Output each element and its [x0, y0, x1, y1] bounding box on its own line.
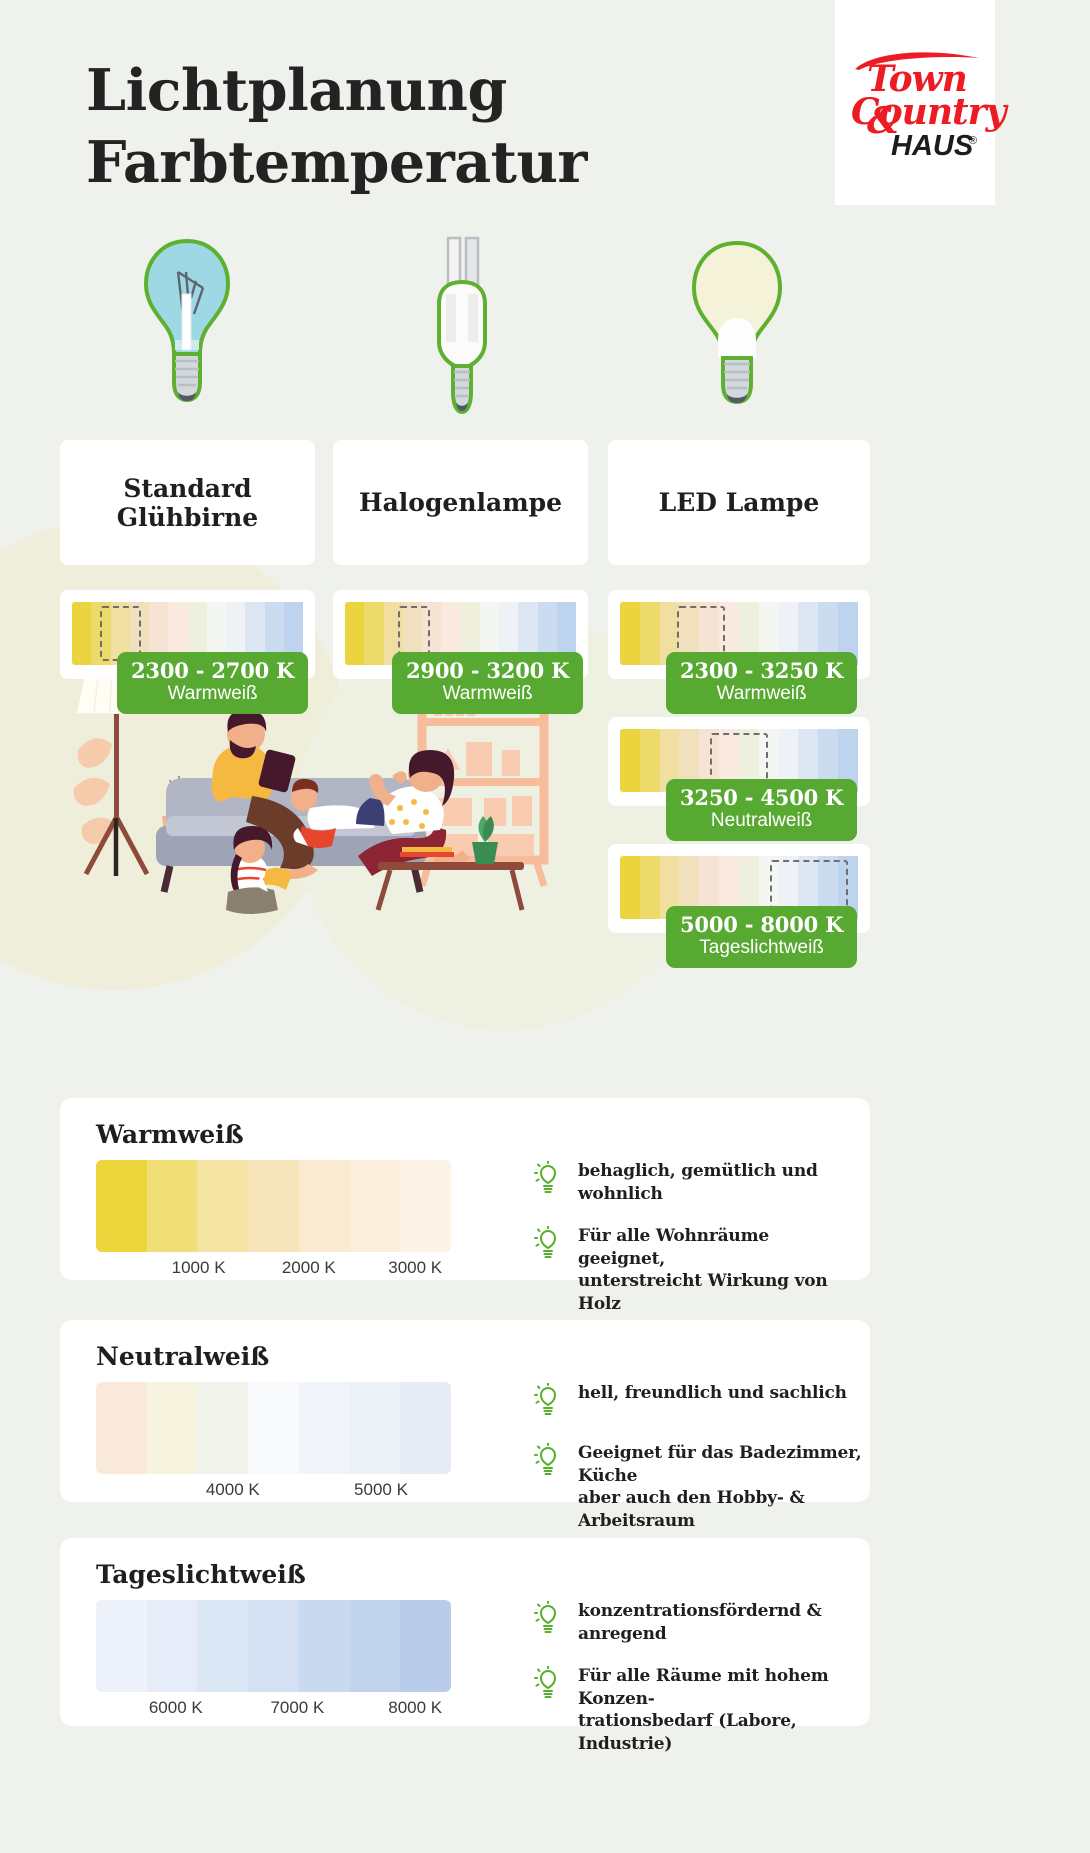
kelvin-band [640, 856, 660, 919]
bullet-text: Für alle Räume mit hohem Konzen- tration… [578, 1665, 864, 1755]
kelvin-band [345, 602, 364, 665]
kelvin-band [620, 729, 640, 792]
bullet-text: behaglich, gemütlich und wohnlich [578, 1160, 844, 1205]
infographic-page: Lichtplanung Farbtemperatur Town & Count… [0, 0, 1090, 1853]
info-panel-tageslichtweiss: Tageslichtweiß 6000 K7000 K8000 K [60, 1538, 870, 1726]
info-band [147, 1160, 198, 1252]
kelvin-name: Warmweiß [131, 683, 294, 706]
bullet-item: hell, freundlich und sachlich [534, 1382, 864, 1422]
lamp-card-title: Standard Glühbirne [60, 474, 315, 532]
lightbulb-icon [534, 1443, 564, 1482]
info-bullets-tageslichtweiss: konzentrationsfördernd & anregend [534, 1600, 864, 1756]
info-band [299, 1382, 350, 1474]
info-tick-labels: 1000 K2000 K3000 K [96, 1258, 476, 1284]
kelvin-badge-halogen-warmweiss: 2900 - 3200 K Warmweiß [392, 652, 583, 714]
info-band [197, 1382, 248, 1474]
info-band [197, 1600, 248, 1692]
info-band [299, 1160, 350, 1252]
tick-label: 8000 K [388, 1698, 442, 1718]
lightbulb-icon [534, 1383, 564, 1422]
kelvin-band [640, 729, 660, 792]
kelvin-range: 2300 - 3250 K [680, 659, 843, 683]
kelvin-name: Neutralweiß [680, 810, 843, 833]
bullet-text: Für alle Wohnräume geeignet, unterstreic… [578, 1225, 844, 1315]
info-band [350, 1600, 401, 1692]
info-band [400, 1382, 451, 1474]
logo-registered-mark: ® [969, 135, 977, 147]
info-panel-warmweiss: Warmweiß 1000 K2000 K3000 K [60, 1098, 870, 1280]
info-gradient-strip [96, 1382, 451, 1474]
kelvin-band [620, 856, 640, 919]
led-lamp-icon [688, 238, 786, 455]
lamp-card-title: Halogenlampe [359, 488, 562, 517]
kelvin-band [640, 602, 660, 665]
info-bullets-warmweiss: behaglich, gemütlich und wohnlich [534, 1160, 844, 1316]
bullet-item: Für alle Räume mit hohem Konzen- tration… [534, 1665, 864, 1755]
kelvin-name: Warmweiß [680, 683, 843, 706]
kelvin-badge-standard-warmweiss: 2300 - 2700 K Warmweiß [117, 652, 308, 714]
bullet-text: konzentrationsfördernd & anregend [578, 1600, 864, 1645]
info-gradient-strip [96, 1160, 451, 1252]
info-band [248, 1600, 299, 1692]
tick-label: 1000 K [172, 1258, 226, 1278]
logo-line-haus: HAUS [891, 130, 973, 163]
info-panel-title: Warmweiß [96, 1120, 244, 1149]
lightbulb-icon [534, 1226, 564, 1265]
lightbulb-icon [534, 1666, 564, 1705]
bullet-item: Geeignet für das Badezimmer, Küche aber … [534, 1442, 864, 1532]
info-band [147, 1600, 198, 1692]
lamp-card-led[interactable]: LED Lampe [608, 440, 870, 565]
info-panel-title: Tageslichtweiß [96, 1560, 306, 1589]
info-band [96, 1600, 147, 1692]
info-panel-title: Neutralweiß [96, 1342, 269, 1371]
info-tick-labels: 4000 K5000 K [96, 1480, 476, 1506]
lamp-card-halogen[interactable]: Halogenlampe [333, 440, 588, 565]
info-panel-neutralweiss: Neutralweiß 4000 K5000 K [60, 1320, 870, 1502]
tick-label: 4000 K [206, 1480, 260, 1500]
info-tick-labels: 6000 K7000 K8000 K [96, 1698, 476, 1724]
kelvin-badge-led-neutralweiss: 3250 - 4500 K Neutralweiß [666, 779, 857, 841]
bullet-item: konzentrationsfördernd & anregend [534, 1600, 864, 1645]
kelvin-badge-led-tageslichtweiss: 5000 - 8000 K Tageslichtweiß [666, 906, 857, 968]
bullet-item: Für alle Wohnräume geeignet, unterstreic… [534, 1225, 844, 1315]
kelvin-range: 3250 - 4500 K [680, 786, 843, 810]
logo-line-country: Country [851, 91, 1006, 133]
kelvin-badge-led-warmweiss: 2300 - 3250 K Warmweiß [666, 652, 857, 714]
info-band [147, 1382, 198, 1474]
kelvin-name: Warmweiß [406, 683, 569, 706]
kelvin-range: 2900 - 3200 K [406, 659, 569, 683]
kelvin-band [620, 602, 640, 665]
lamp-card-title: LED Lampe [659, 488, 820, 517]
logo-panel: Town & Country HAUS ® [835, 0, 995, 205]
town-country-haus-logo: Town & Country HAUS ® [845, 43, 985, 163]
lightbulb-icon [534, 1601, 564, 1640]
info-gradient-strip [96, 1600, 451, 1692]
kelvin-band [72, 602, 91, 665]
lamp-card-standard[interactable]: Standard Glühbirne [60, 440, 315, 565]
info-band [248, 1160, 299, 1252]
lightbulb-icon [534, 1161, 564, 1200]
tick-label: 2000 K [282, 1258, 336, 1278]
tick-label: 5000 K [354, 1480, 408, 1500]
info-band [299, 1600, 350, 1692]
info-band [197, 1160, 248, 1252]
bullet-item: behaglich, gemütlich und wohnlich [534, 1160, 844, 1205]
bullet-text: hell, freundlich und sachlich [578, 1382, 847, 1405]
kelvin-range: 2300 - 2700 K [131, 659, 294, 683]
tick-label: 7000 K [270, 1698, 324, 1718]
kelvin-name: Tageslichtweiß [680, 937, 843, 960]
info-band [400, 1600, 451, 1692]
info-bullets-neutralweiss: hell, freundlich und sachlich [534, 1382, 864, 1532]
page-title: Lichtplanung Farbtemperatur [86, 55, 587, 199]
incandescent-bulb-icon [141, 236, 233, 456]
kelvin-range: 5000 - 8000 K [680, 913, 843, 937]
tick-label: 6000 K [149, 1698, 203, 1718]
info-band [350, 1382, 401, 1474]
info-band [248, 1382, 299, 1474]
tick-label: 3000 K [388, 1258, 442, 1278]
kelvin-band [364, 602, 383, 665]
info-band [350, 1160, 401, 1252]
info-band [400, 1160, 451, 1252]
bullet-text: Geeignet für das Badezimmer, Küche aber … [578, 1442, 864, 1532]
halogen-lamp-icon [423, 230, 501, 457]
info-band [96, 1382, 147, 1474]
info-band [96, 1160, 147, 1252]
